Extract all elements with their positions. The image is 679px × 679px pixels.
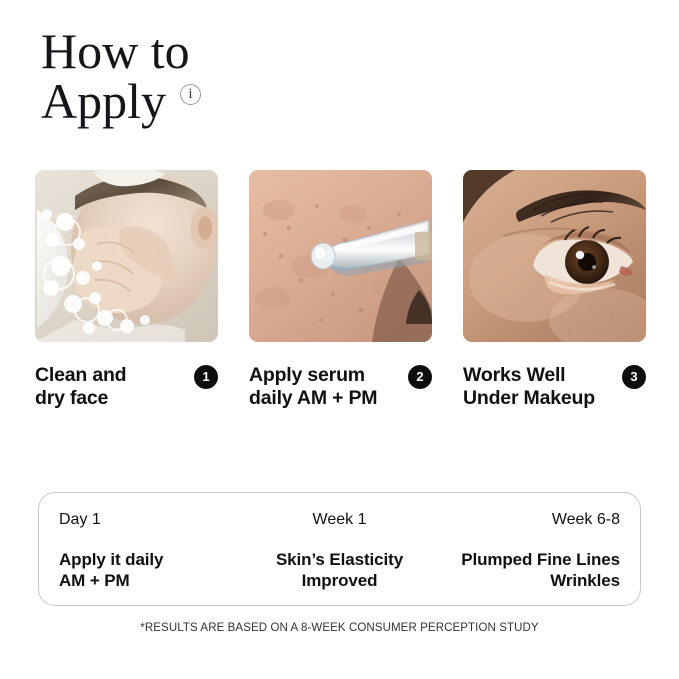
step-2-caption-line-1: Apply serum (249, 364, 365, 386)
step-1: Clean and dry face 1 (35, 170, 218, 410)
timeline-period-2: Week 1 (246, 510, 433, 530)
step-3-caption: Works Well Under Makeup (463, 364, 595, 410)
photo-washing-face (35, 170, 218, 342)
step-1-badge: 1 (194, 365, 218, 389)
step-1-caption-line-2: dry face (35, 387, 108, 409)
results-timeline-box: Day 1 Apply it daily AM + PM Week 1 Skin… (38, 492, 641, 606)
timeline-desc-1: Apply it daily AM + PM (59, 549, 246, 591)
page-title-line-2-wrap: Apply i (41, 76, 166, 126)
page-title-line-2: Apply (41, 73, 166, 129)
step-3-caption-row: Works Well Under Makeup 3 (463, 364, 646, 410)
step-3: Works Well Under Makeup 3 (463, 170, 646, 410)
step-3-badge: 3 (622, 365, 646, 389)
timeline-desc-2-line-1: Skin’s Elasticity (276, 550, 403, 569)
step-3-caption-line-2: Under Makeup (463, 387, 595, 409)
timeline-desc-2: Skin’s Elasticity Improved (246, 549, 433, 591)
timeline-desc-3-line-1: Plumped Fine Lines (461, 550, 620, 569)
timeline-column-week-6-8: Week 6-8 Plumped Fine Lines Wrinkles (433, 510, 620, 605)
step-2-badge: 2 (408, 365, 432, 389)
timeline-column-week-1: Week 1 Skin’s Elasticity Improved (246, 510, 433, 605)
page-title-line-1: How to (41, 26, 361, 76)
footnote-disclaimer: *RESULTS ARE BASED ON A 8-WEEK CONSUMER … (0, 622, 679, 634)
timeline-column-day-1: Day 1 Apply it daily AM + PM (59, 510, 246, 605)
timeline-period-1: Day 1 (59, 510, 246, 530)
info-icon[interactable]: i (180, 84, 201, 105)
step-2: Apply serum daily AM + PM 2 (249, 170, 432, 410)
step-2-caption-line-2: daily AM + PM (249, 387, 377, 409)
timeline-desc-3: Plumped Fine Lines Wrinkles (433, 549, 620, 591)
steps-row: Clean and dry face 1 (35, 170, 646, 410)
step-1-caption: Clean and dry face (35, 364, 126, 410)
timeline-desc-3-line-2: Wrinkles (550, 571, 620, 590)
photo-serum-dropper (249, 170, 432, 342)
step-1-caption-line-1: Clean and (35, 364, 126, 386)
step-2-caption-row: Apply serum daily AM + PM 2 (249, 364, 432, 410)
step-3-caption-line-1: Works Well (463, 364, 565, 386)
timeline-desc-2-line-2: Improved (302, 571, 378, 590)
timeline-desc-1-line-1: Apply it daily (59, 550, 163, 569)
timeline-period-3: Week 6-8 (433, 510, 620, 530)
step-1-caption-row: Clean and dry face 1 (35, 364, 218, 410)
timeline-desc-1-line-2: AM + PM (59, 571, 130, 590)
page-title: How to Apply i (41, 26, 361, 126)
step-2-caption: Apply serum daily AM + PM (249, 364, 377, 410)
photo-eye-closeup (463, 170, 646, 342)
